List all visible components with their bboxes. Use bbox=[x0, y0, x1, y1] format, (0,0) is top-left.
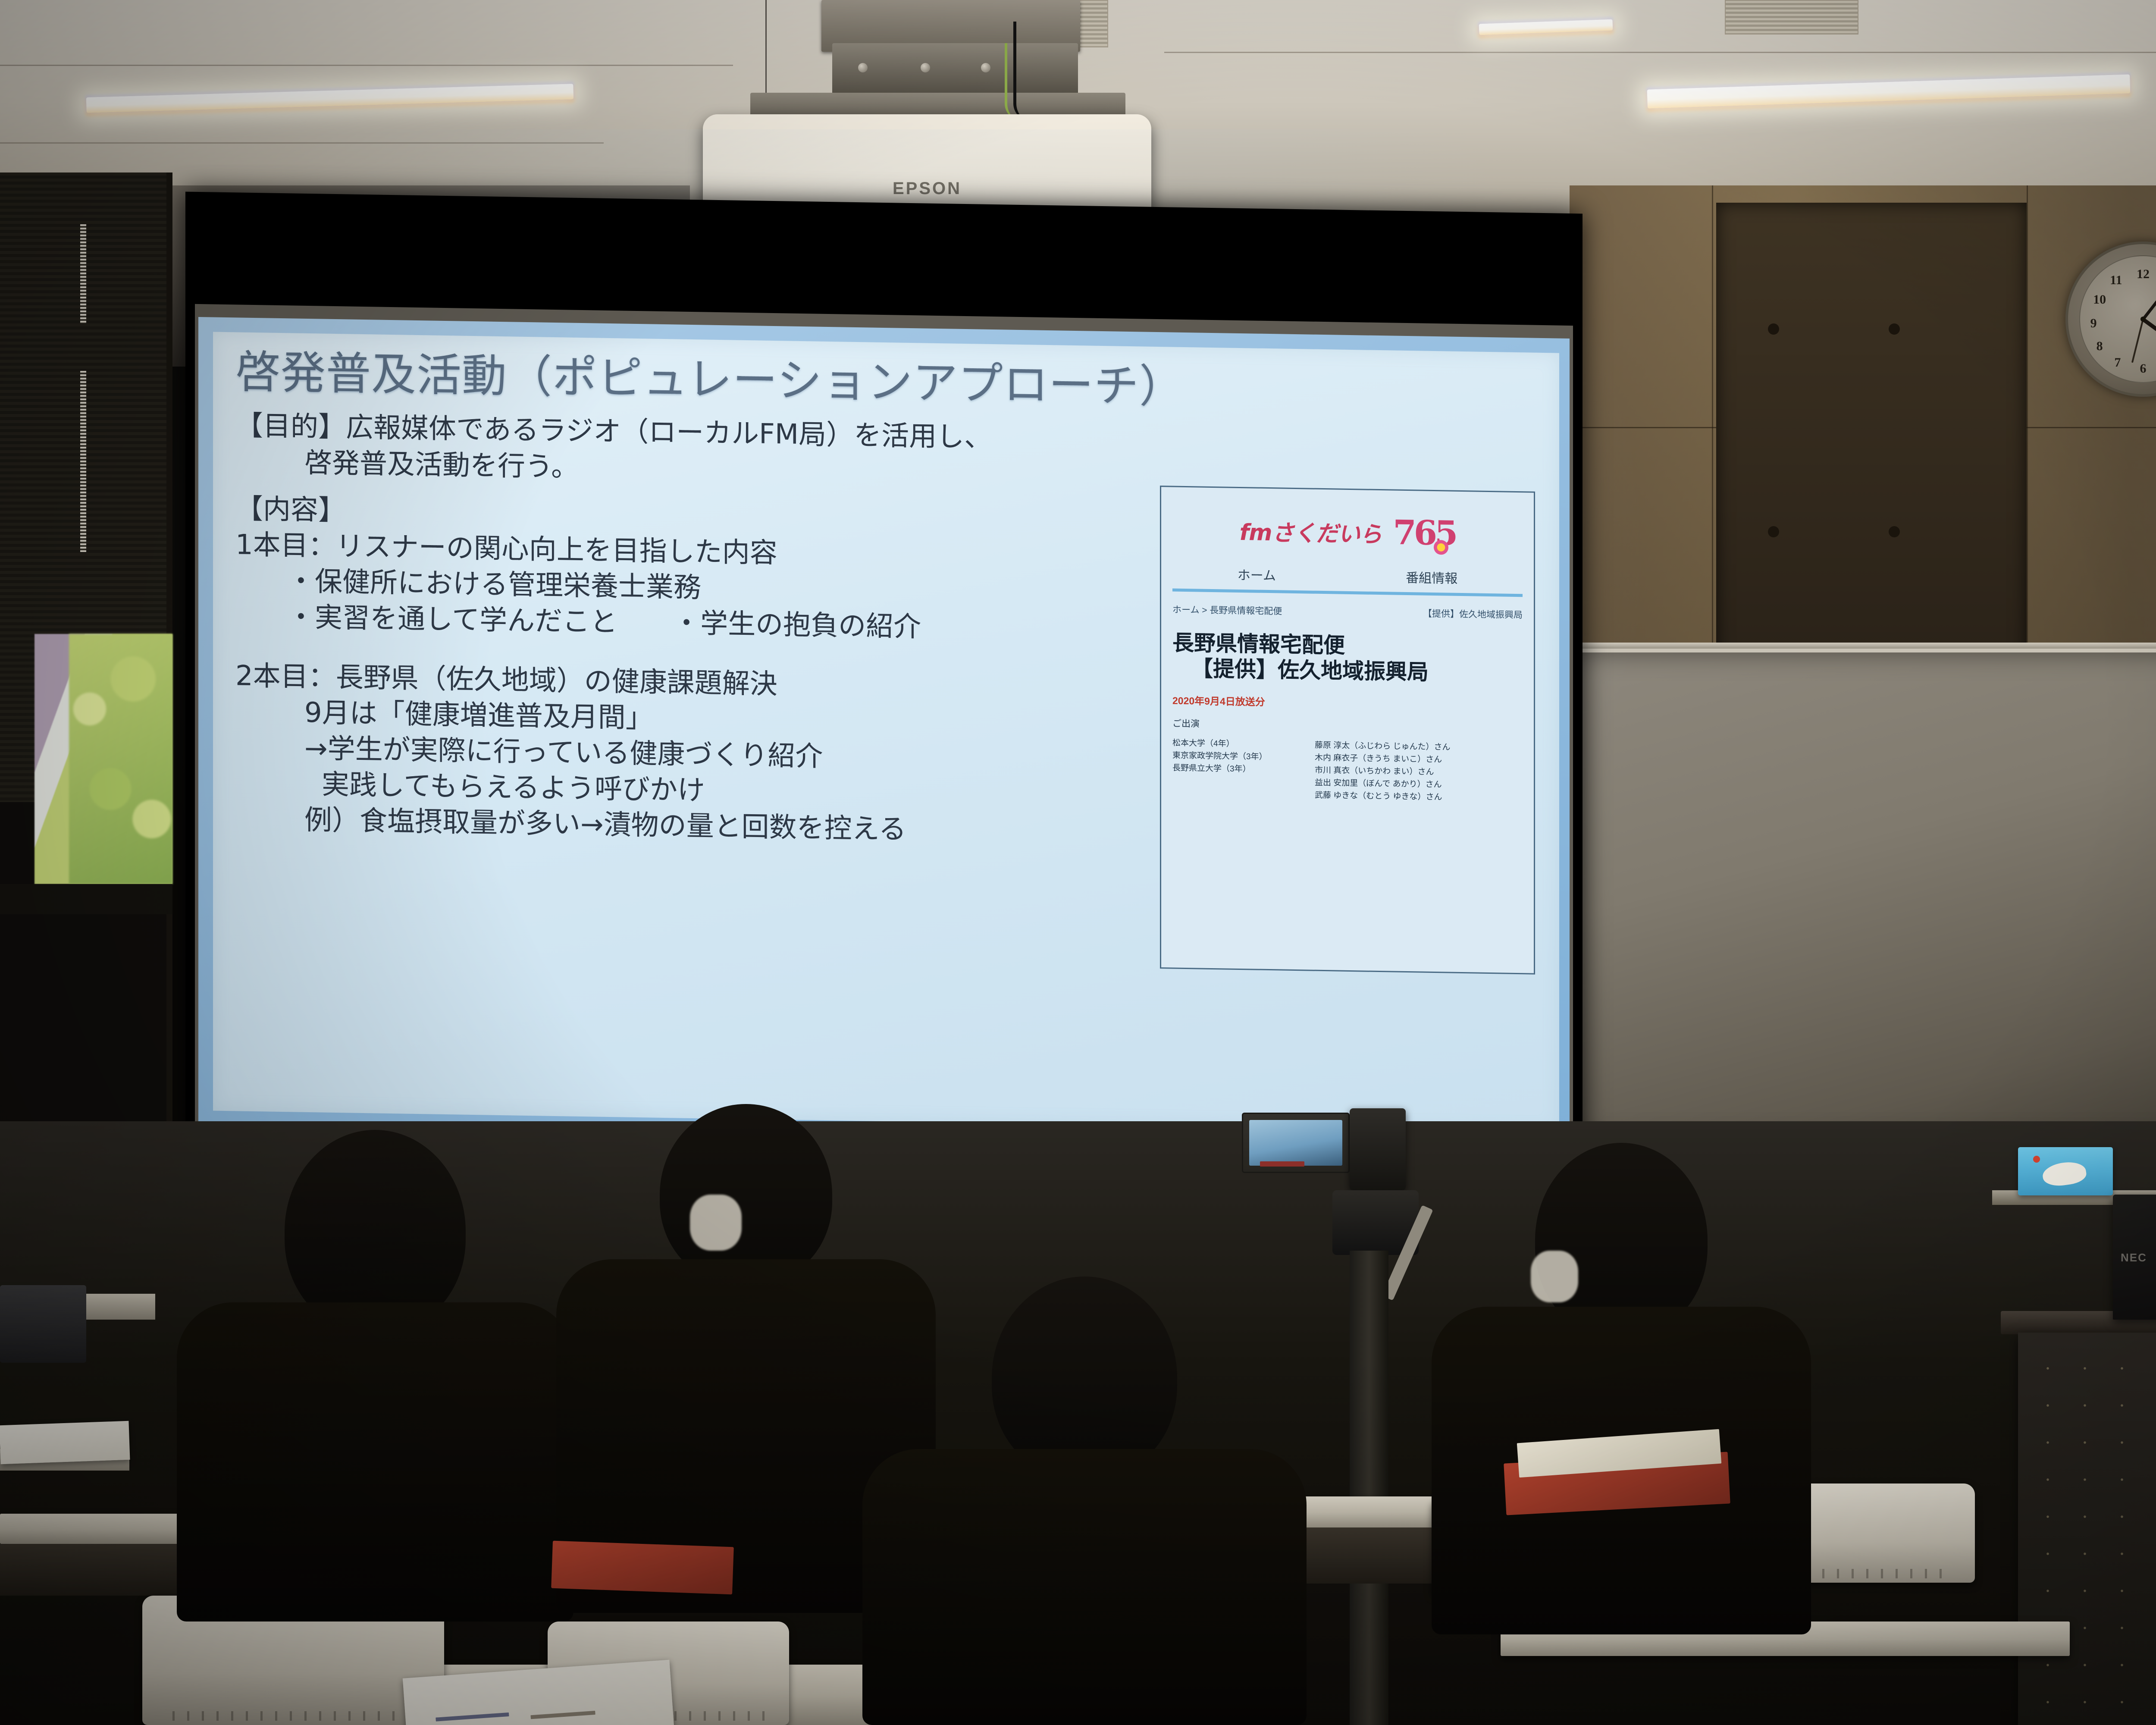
flower-icon bbox=[1434, 540, 1448, 555]
ceiling-seam bbox=[0, 142, 604, 144]
audience-member bbox=[172, 1130, 578, 1613]
cast-name: 市川 真衣（いちかわ まい）さん bbox=[1315, 764, 1434, 778]
cast-list: 松本大学（4年） 藤原 淳太（ふじわら じゅんた）さん 東京家政学院大学（3年）… bbox=[1172, 737, 1523, 805]
nav-item-home[interactable]: ホーム bbox=[1238, 565, 1276, 584]
tripod-column bbox=[1350, 1251, 1388, 1725]
camcorder-lcd-screen bbox=[1249, 1120, 1342, 1166]
cast-name: 益出 安加里（ぼんで あかり）さん bbox=[1315, 777, 1442, 791]
webpage-heading-line2: 【提供】佐久地域振興局 bbox=[1172, 656, 1523, 687]
fm-station-logo: fmさくだいら 765 bbox=[1172, 510, 1523, 555]
ceiling-seam bbox=[1164, 52, 2156, 53]
projector-brand-label: EPSON bbox=[703, 179, 1151, 198]
clock-numeral: 7 bbox=[2114, 355, 2121, 370]
projector-mount-bolt bbox=[981, 63, 990, 72]
nav-item-program[interactable]: 番組情報 bbox=[1406, 567, 1457, 587]
fm-frequency-logo: 765 bbox=[1393, 513, 1455, 553]
audience-member bbox=[1432, 1143, 1811, 1630]
window-foliage-view bbox=[69, 634, 172, 884]
chair-back-slots bbox=[172, 1711, 414, 1721]
cast-org bbox=[1172, 787, 1315, 802]
face-mask bbox=[1531, 1251, 1578, 1302]
presentation-slide: 啓発普及活動（ポピュレーションアプローチ） 【目的】広報媒体であるラジオ（ローカ… bbox=[198, 317, 1570, 1149]
webpage-heading: 長野県情報宅配便 【提供】佐久地域振興局 bbox=[1172, 630, 1523, 687]
audience-body bbox=[862, 1449, 1307, 1725]
audience-member bbox=[862, 1276, 1307, 1725]
clock-numeral: 8 bbox=[2096, 339, 2103, 354]
audience-head bbox=[660, 1104, 832, 1285]
fm-logo-text: fmさくだいら bbox=[1240, 514, 1382, 549]
handout-paper[interactable] bbox=[0, 1421, 130, 1464]
slide-title: 啓発普及活動（ポピュレーションアプローチ） bbox=[235, 347, 1542, 417]
wood-recessed-panel bbox=[1716, 203, 2027, 664]
audience-body bbox=[177, 1302, 573, 1621]
webpage-nav: ホーム 番組情報 bbox=[1172, 564, 1523, 588]
ceiling-seam bbox=[0, 65, 733, 66]
clock-center-pin bbox=[2140, 317, 2146, 322]
tissue-box-dot bbox=[2033, 1156, 2040, 1163]
clock-numeral: 6 bbox=[2140, 361, 2147, 376]
clock-numeral: 9 bbox=[2090, 316, 2097, 331]
projector-mount-bolt bbox=[921, 63, 930, 72]
blind-cord[interactable] bbox=[80, 371, 86, 552]
whiteboard-rail bbox=[1574, 643, 2156, 649]
cast-name: 木内 麻衣子（きうち まいこ）さん bbox=[1315, 752, 1442, 767]
ceiling-air-vent bbox=[1725, 0, 1858, 34]
projection-screen: 啓発普及活動（ポピュレーションアプローチ） 【目的】広報媒体であるラジオ（ローカ… bbox=[185, 192, 1583, 1171]
laptop-brand-label: NEC bbox=[2121, 1251, 2147, 1264]
tissue-box bbox=[2018, 1147, 2113, 1195]
clock-numeral: 12 bbox=[2137, 267, 2150, 282]
slide-content-area: 啓発普及活動（ポピュレーションアプローチ） 【目的】広報媒体であるラジオ（ローカ… bbox=[213, 332, 1559, 1132]
blind-cord[interactable] bbox=[80, 224, 86, 323]
clock-numeral: 11 bbox=[2110, 273, 2122, 288]
whiteboard bbox=[1574, 649, 2156, 1140]
face-mask bbox=[690, 1195, 742, 1251]
projector-mount-bolt bbox=[858, 63, 868, 72]
nec-laptop[interactable]: NEC bbox=[2113, 1195, 2156, 1320]
breadcrumb-sponsor: 【提供】佐久地域振興局 bbox=[1423, 607, 1523, 621]
clock-numeral: 10 bbox=[2093, 292, 2106, 307]
embedded-webpage-screenshot: fmさくだいら 765 ホーム 番組情報 ホーム > 長野県情報宅配便 【提供】… bbox=[1160, 486, 1535, 975]
side-monitor bbox=[0, 1285, 86, 1363]
broadcast-date: 2020年9月4日放送分 bbox=[1172, 693, 1523, 713]
camcorder-record-indicator bbox=[1260, 1161, 1304, 1167]
window-sill bbox=[0, 884, 172, 914]
cast-label: ご出演 bbox=[1172, 717, 1523, 735]
camcorder-body[interactable] bbox=[1350, 1108, 1406, 1190]
breadcrumb-path: ホーム > 長野県情報宅配便 bbox=[1172, 603, 1282, 618]
podium bbox=[2018, 1333, 2156, 1725]
lecture-hall-photo: EPSON 12 1 2 3 4 5 6 7 8 9 10 11 bbox=[0, 0, 2156, 1725]
camcorder-lcd-panel[interactable] bbox=[1242, 1113, 1350, 1173]
cast-name: 武藤 ゆきな（むとう ゆきな）さん bbox=[1315, 789, 1442, 804]
webpage-breadcrumb: ホーム > 長野県情報宅配便 【提供】佐久地域振興局 bbox=[1172, 603, 1523, 621]
podium-perforated-front bbox=[2029, 1350, 2156, 1721]
webpage-heading-line1: 長野県情報宅配便 bbox=[1172, 630, 1345, 658]
webpage-accent-rule bbox=[1172, 589, 1523, 597]
tissue-sheet bbox=[2041, 1160, 2087, 1188]
projector-signal-cable bbox=[1005, 43, 1056, 121]
folder[interactable] bbox=[551, 1541, 734, 1595]
